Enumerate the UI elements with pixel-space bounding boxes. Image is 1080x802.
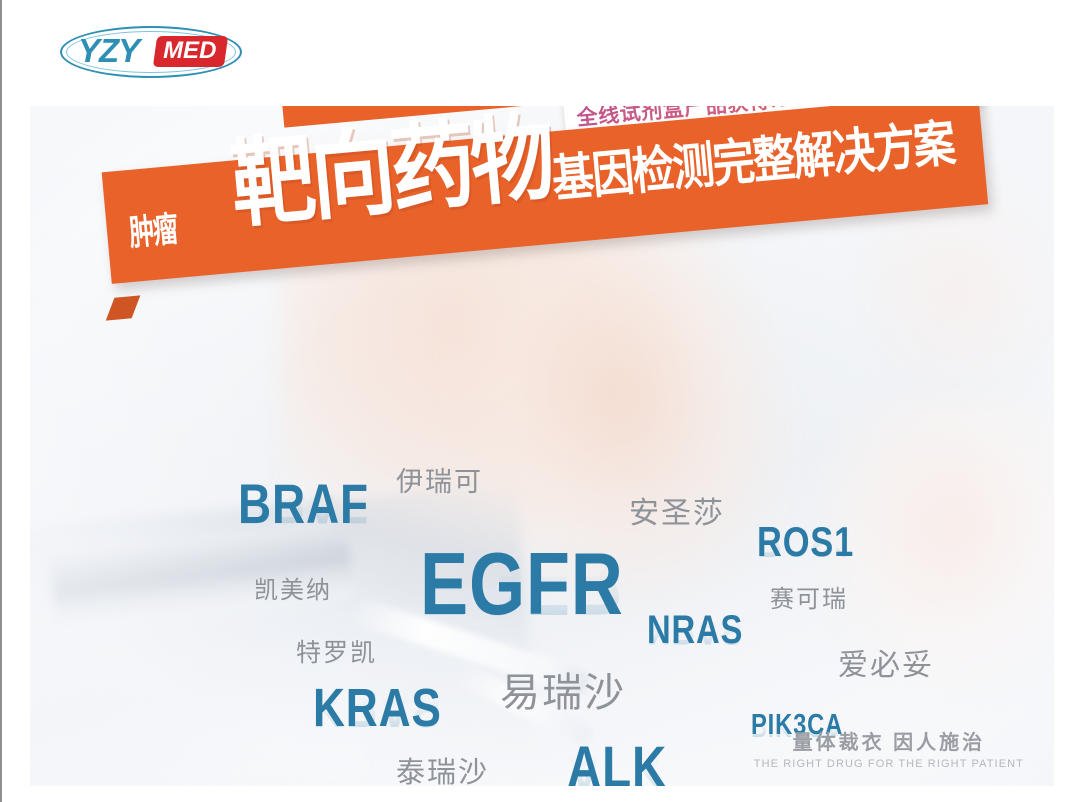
drug-brand-word: 爱必妥	[838, 651, 934, 681]
headline-prefix: 肿瘤	[128, 210, 179, 254]
gene-word: KRASKRAS	[313, 681, 442, 735]
logo-med-label: MED	[163, 38, 216, 64]
hero-photo-stage: BRAFBRAFEGFREGFRROS1ROS1NRASNRASKRASKRAS…	[30, 106, 1054, 786]
gene-word-reflection: NRAS	[647, 610, 743, 650]
drug-brand-word: 凯美纳	[254, 579, 332, 603]
logo-wordmark: YZY	[78, 33, 139, 69]
slogan-english: THE RIGHT DRUG FOR THE RIGHT PATIENT	[754, 756, 1024, 772]
gene-word: EGFREGFR	[420, 540, 624, 628]
gene-word-reflection: KRAS	[313, 681, 442, 735]
brand-logo: YZY MED	[60, 24, 250, 80]
drug-brand-word: 赛可瑞	[770, 588, 848, 612]
gene-word: ALKALK	[567, 739, 667, 786]
drug-brand-word: 泰瑞沙	[396, 759, 489, 786]
drug-brand-word: 特罗凯	[296, 641, 377, 666]
poster-canvas: YZY MED BRAFBRAFEGFREGFRROS1ROS1NRASNRAS…	[0, 0, 1080, 802]
gene-word: NRASNRAS	[647, 610, 743, 650]
logo-med-badge: MED	[153, 36, 229, 67]
drug-brand-word: 易瑞沙	[500, 673, 626, 713]
drug-brand-word: 安圣莎	[629, 499, 725, 529]
gene-word-reflection: EGFR	[420, 540, 624, 628]
gene-word-reflection: ALK	[567, 739, 667, 786]
gene-word: ROS1ROS1	[757, 521, 854, 563]
slogan-chinese: 量体裁衣 因人施治	[754, 730, 1024, 756]
gene-word-reflection: ROS1	[757, 521, 854, 563]
slogan-block: 量体裁衣 因人施治 THE RIGHT DRUG FOR THE RIGHT P…	[754, 730, 1024, 772]
gene-word: BRAFBRAF	[238, 476, 369, 532]
gene-word-reflection: BRAF	[238, 476, 369, 532]
drug-brand-word: 伊瑞可	[396, 469, 483, 496]
